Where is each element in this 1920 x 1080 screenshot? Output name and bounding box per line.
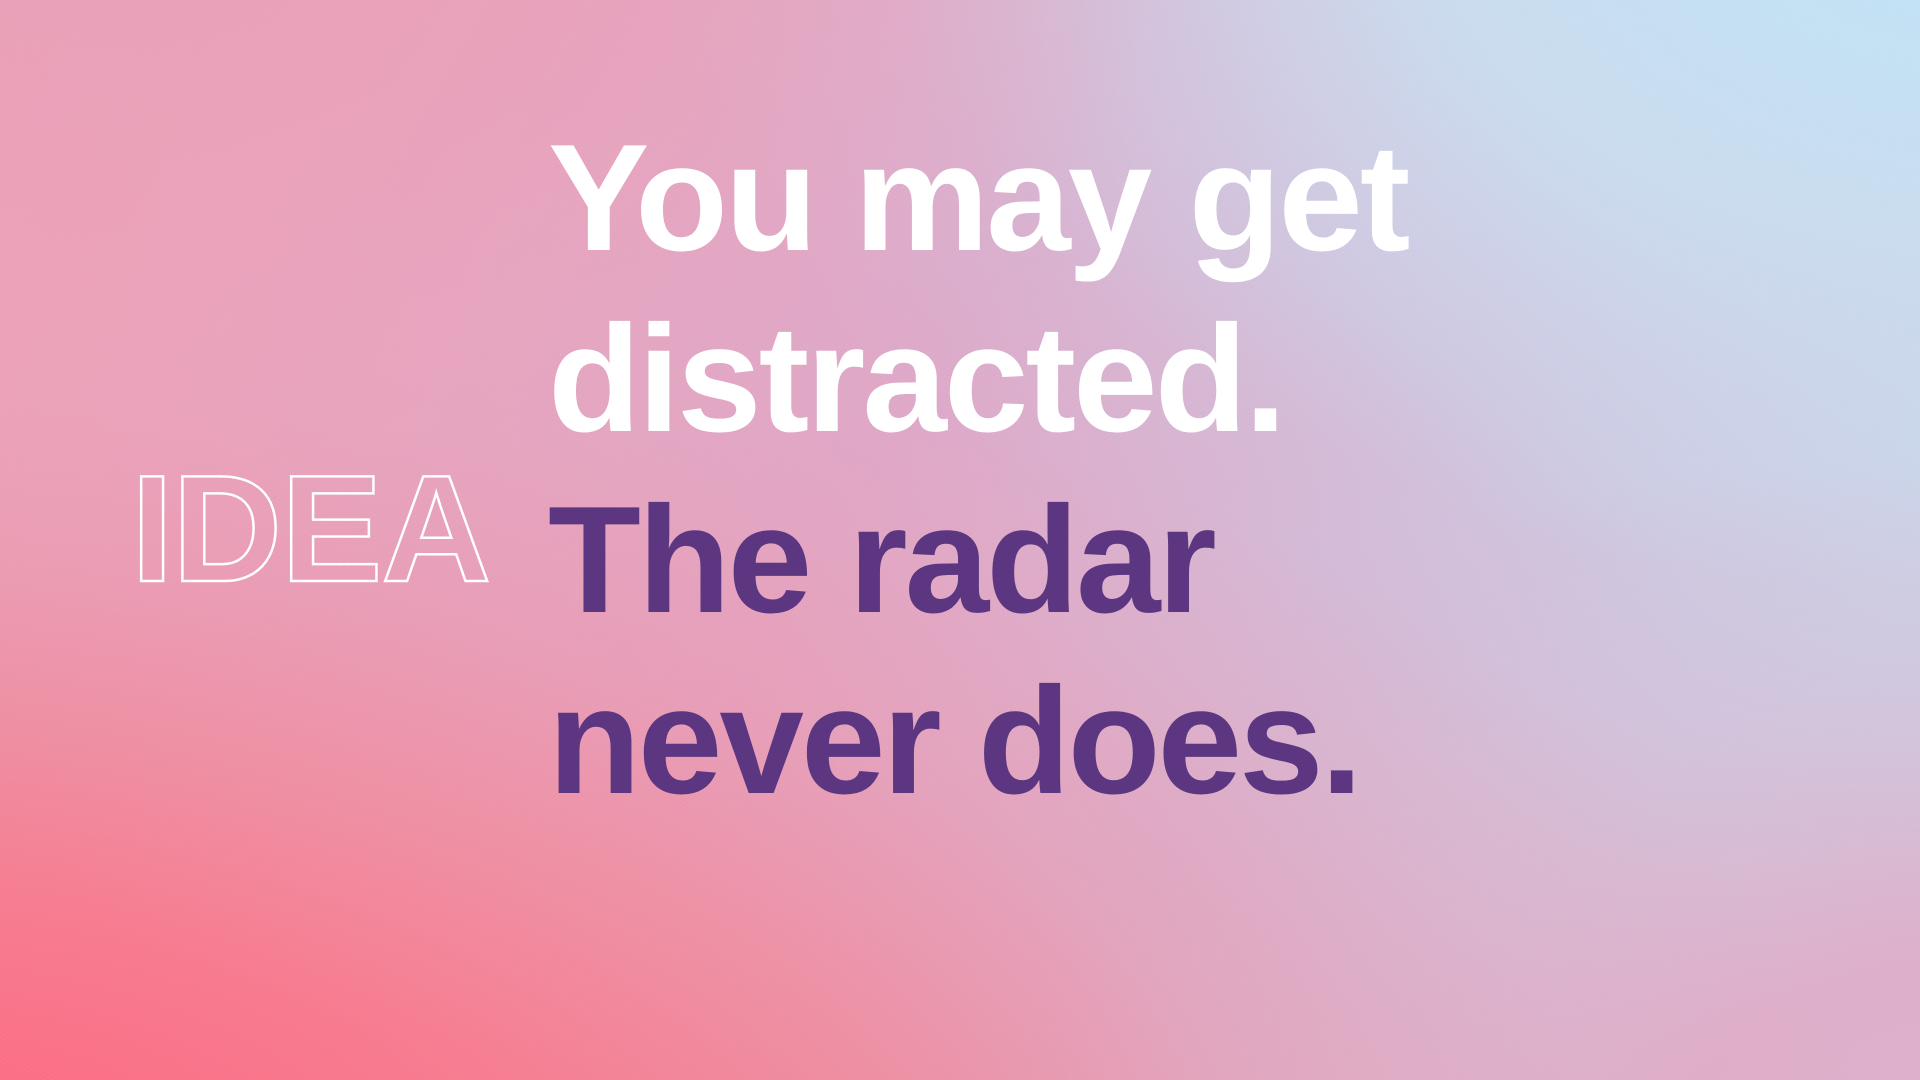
- headline-line-3: The radar: [548, 470, 1878, 651]
- headline-line-1: You may get: [548, 108, 1878, 289]
- headline-line-4: never does.: [548, 651, 1878, 832]
- headline-block: You may get distracted. The radar never …: [548, 108, 1878, 832]
- headline-line-2: distracted.: [548, 289, 1878, 470]
- slide-canvas: IDEA You may get distracted. The radar n…: [0, 0, 1920, 1080]
- eyebrow-label-idea: IDEA: [131, 453, 490, 605]
- slide-content: IDEA You may get distracted. The radar n…: [0, 0, 1920, 1080]
